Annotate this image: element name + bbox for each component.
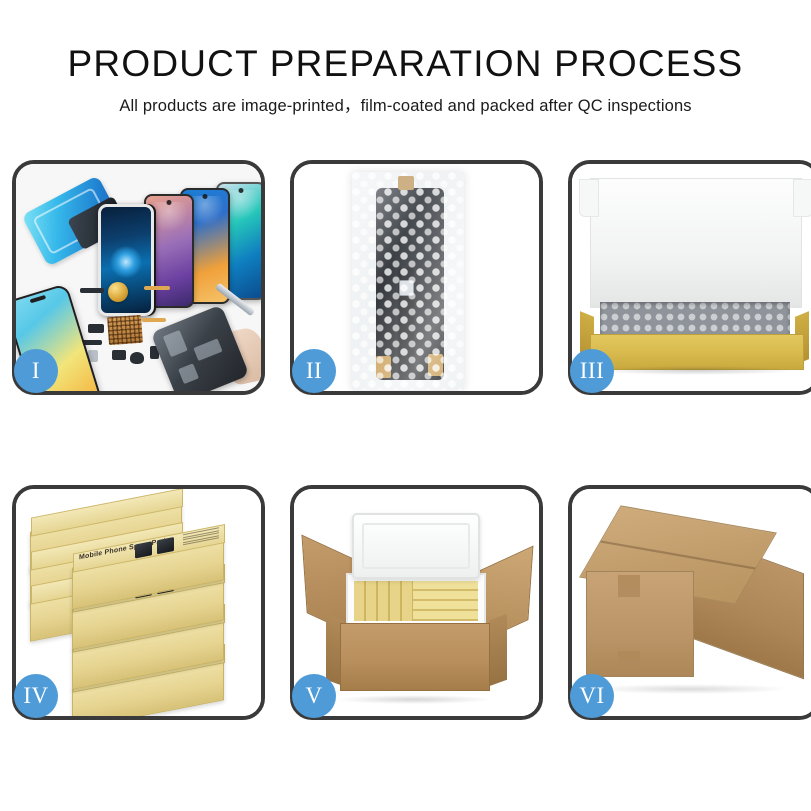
carton-tape-lower-icon — [618, 651, 640, 673]
process-step-grid: I II — [12, 160, 800, 720]
process-step-panel-3[interactable]: III — [568, 160, 811, 395]
step-badge-5: V — [292, 674, 336, 718]
button-part-icon — [112, 350, 126, 360]
sealed-carton-shadow — [592, 684, 788, 694]
carton-side-right-icon — [489, 614, 507, 687]
bubble-wrap-bag — [352, 172, 464, 390]
plastic-sheen — [352, 172, 464, 390]
page-subtitle: All products are image-printed，film-coat… — [0, 94, 811, 118]
process-step-panel-5[interactable]: V — [290, 485, 543, 720]
connector-icon — [88, 324, 104, 333]
step-badge-6: VI — [570, 674, 614, 718]
step-badge-1: I — [14, 349, 58, 393]
process-step-panel-4[interactable]: Mobile Phone Spare Parts Mobile Phone Sp… — [12, 485, 265, 720]
carton-tape-upper-icon — [618, 575, 640, 597]
box-stack-group: Mobile Phone Spare Parts Mobile Phone Sp… — [26, 507, 258, 707]
step-badge-3: III — [570, 349, 614, 393]
yellow-boxes-row-2-icon — [413, 581, 478, 621]
foam-tray-icon — [346, 573, 486, 629]
phone-back-housing-icon — [151, 305, 250, 391]
carton-shadow — [338, 695, 490, 704]
tempered-glass-screen-icon — [98, 204, 154, 316]
bubble-wrap-insert-icon — [600, 302, 790, 336]
foam-lid-icon — [352, 513, 480, 579]
sealed-carton-front-icon — [586, 571, 694, 677]
process-step-panel-2[interactable]: II — [290, 160, 543, 395]
step-badge-2: II — [292, 349, 336, 393]
chip-array-icon — [107, 315, 143, 345]
kraft-box-front-icon — [590, 334, 804, 370]
page-header: PRODUCT PREPARATION PROCESS All products… — [0, 0, 811, 118]
step-badge-4: IV — [14, 674, 58, 718]
speaker-icon — [130, 352, 144, 364]
gold-component-icon — [108, 282, 128, 302]
box-shadow — [598, 366, 794, 375]
carton-front-icon — [340, 623, 490, 691]
earpiece-mesh-icon — [80, 288, 104, 293]
tape-strip-icon — [398, 176, 414, 190]
flex-cable-icon — [144, 286, 170, 290]
white-box-lid-icon — [590, 178, 802, 308]
flex-cable-2-icon — [142, 318, 166, 322]
page-title: PRODUCT PREPARATION PROCESS — [0, 42, 811, 86]
process-step-panel-6[interactable]: VI — [568, 485, 811, 720]
process-step-panel-1[interactable]: I — [12, 160, 265, 395]
